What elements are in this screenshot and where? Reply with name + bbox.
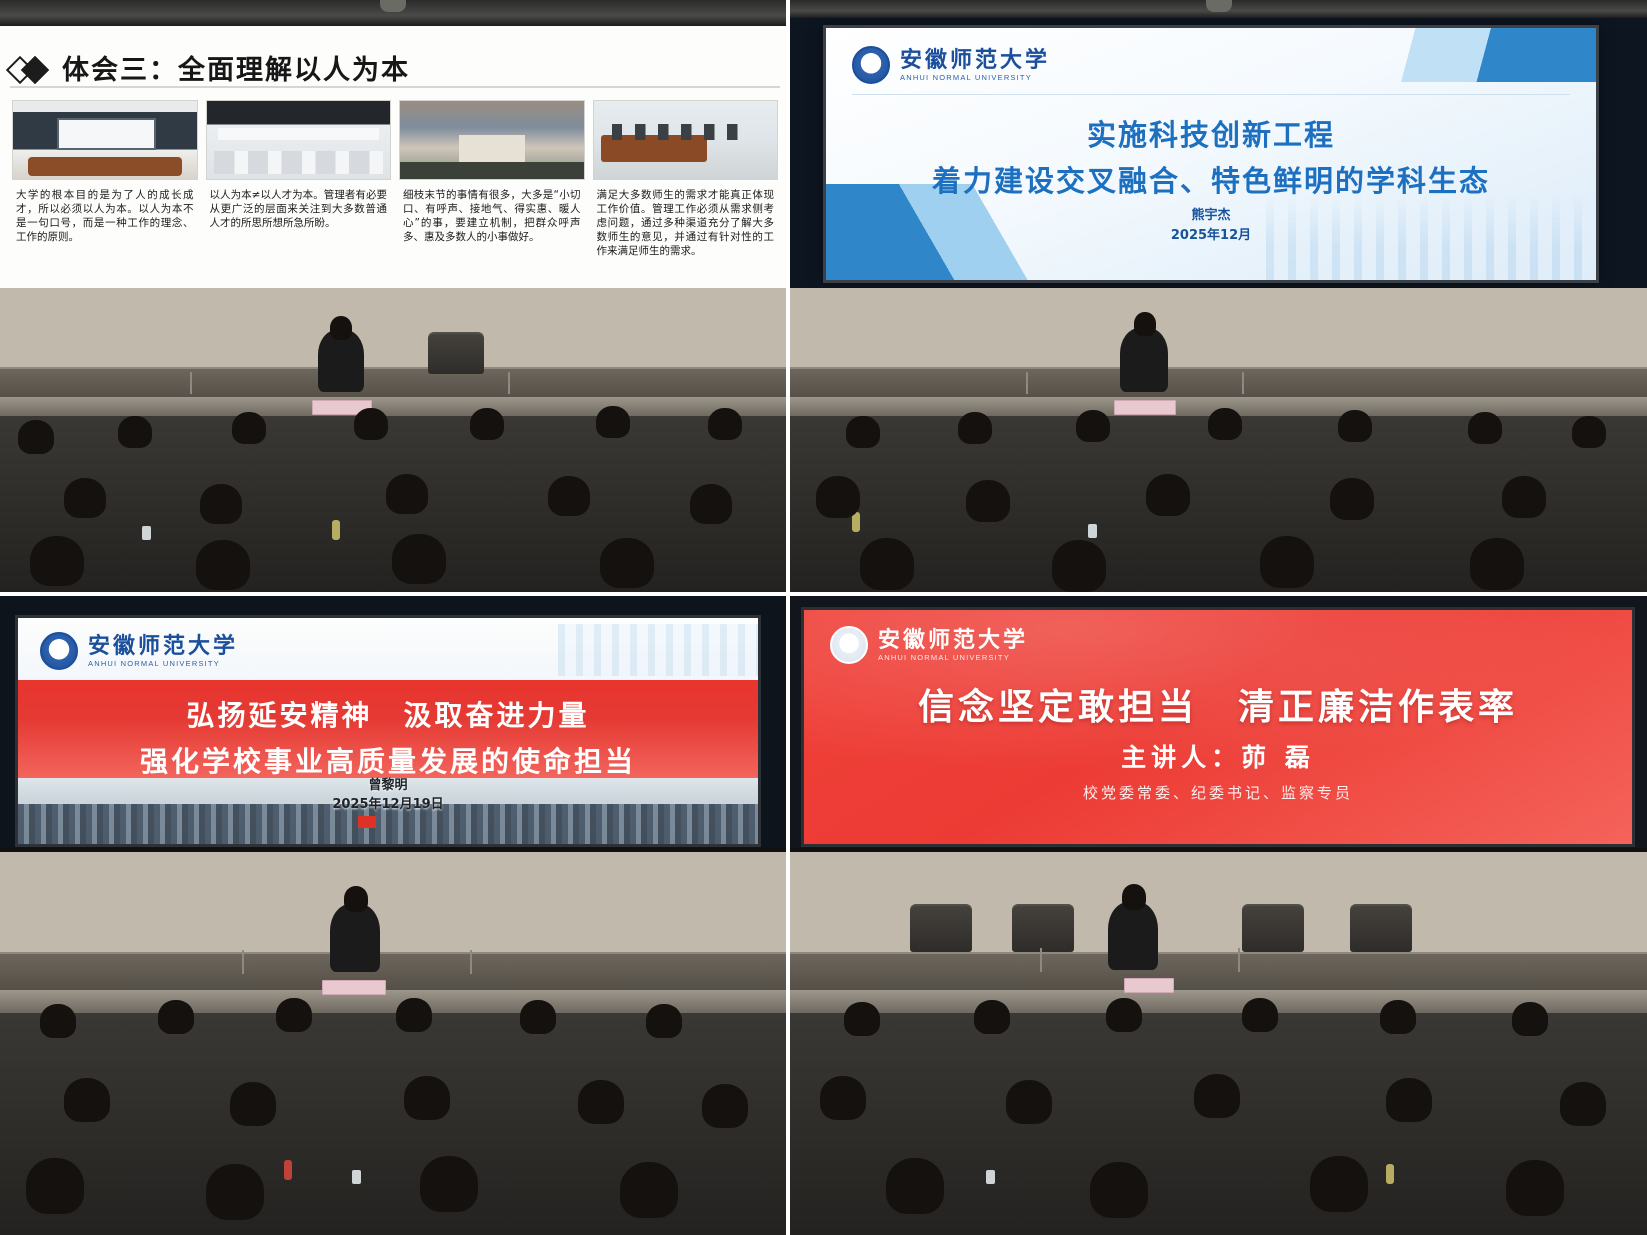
audience-head (860, 538, 914, 590)
slide-title-band: 弘扬延安精神 汲取奋进力量 强化学校事业高质量发展的使命担当 (18, 680, 758, 778)
audience-head (1208, 408, 1242, 440)
speaker-nameplate (322, 980, 386, 995)
projector-screen-top-bar (0, 0, 786, 26)
slide-text-column-2: 以人为本≠以人才为本。管理者有必要从更广泛的层面来关注到大多数普通人才的所思所想… (206, 188, 392, 258)
speaker-person (1120, 328, 1168, 392)
microphone (1238, 948, 1240, 972)
university-name-cn: 安徽师范大学 (88, 635, 238, 657)
audience-head (230, 1082, 276, 1126)
audience-head (30, 536, 84, 586)
university-name: 安徽师范大学 ANHUI NORMAL UNIVERSITY (878, 629, 1028, 662)
audience-head (520, 1000, 556, 1034)
speaker-nameplate (1114, 400, 1176, 415)
bottle (284, 1160, 292, 1180)
cup (1088, 524, 1097, 538)
speaker-head (1122, 884, 1146, 910)
audience-area-top-right (790, 288, 1647, 592)
slide-speaker: 曾黎明 (18, 776, 758, 795)
slide-speaker: 主讲人：茆 磊 (804, 738, 1632, 774)
microphone (1026, 372, 1028, 394)
audience-head (354, 408, 388, 440)
microphone (190, 372, 192, 394)
projection-screen: 安徽师范大学 ANHUI NORMAL UNIVERSITY 实施科技创新工程 … (826, 28, 1596, 280)
head-table (0, 397, 786, 415)
audience-head (1090, 1162, 1148, 1218)
university-name-en: ANHUI NORMAL UNIVERSITY (878, 654, 1028, 662)
slide-speaker: 熊宇杰 (826, 206, 1596, 226)
projector-screen-top-bar (790, 0, 1647, 18)
bottle (1386, 1164, 1394, 1184)
audience-head (958, 412, 992, 444)
slide-text-column-3: 细枝末节的事情有很多，大多是“小切口、有呼声、接地气、得实惠、暖人心”的事，要建… (399, 188, 585, 258)
room-wall (0, 288, 786, 367)
slide-title-line-1: 实施科技创新工程 (826, 112, 1596, 154)
panel-bottom-left: 安徽师范大学 ANHUI NORMAL UNIVERSITY 弘扬延安精神 汲取… (0, 596, 790, 1235)
speaker-person (1108, 902, 1158, 970)
flag-icon (358, 816, 376, 828)
university-seal-icon (40, 632, 78, 670)
slide-title: 信念坚定敢担当 清正廉洁作表率 (804, 678, 1632, 730)
university-name-en: ANHUI NORMAL UNIVERSITY (900, 74, 1050, 82)
cup (352, 1170, 361, 1184)
audience-head (846, 416, 880, 448)
slide-integrity: 安徽师范大学 ANHUI NORMAL UNIVERSITY 信念坚定敢担当 清… (790, 596, 1647, 848)
audience-head (548, 476, 590, 516)
empty-chair (910, 904, 972, 952)
projection-screen: 安徽师范大学 ANHUI NORMAL UNIVERSITY 信念坚定敢担当 清… (804, 610, 1632, 844)
audience-head (974, 1000, 1010, 1034)
speaker-head (344, 886, 368, 912)
audience-head (396, 998, 432, 1032)
projection-screen: 安徽师范大学 ANHUI NORMAL UNIVERSITY 弘扬延安精神 汲取… (18, 618, 758, 844)
audience-head (206, 1164, 264, 1220)
slide-meta: 曾黎明 2025年12月19日 (18, 776, 758, 814)
double-diamond-icon (10, 57, 48, 79)
empty-chair (1242, 904, 1304, 952)
office-building-photo (399, 100, 585, 180)
university-name: 安徽师范大学 ANHUI NORMAL UNIVERSITY (900, 49, 1050, 82)
slide-top-decoration (1296, 28, 1596, 82)
audience-head (1470, 538, 1524, 590)
slide-text-column-4: 满足大多数师生的需求才能真正体现工作价值。管理工作必须从需求侧考虑问题，通过多种… (593, 188, 779, 258)
microphone (508, 372, 510, 394)
slide-campus-silhouette (558, 624, 758, 676)
audience-head (118, 416, 152, 448)
university-name-cn: 安徽师范大学 (878, 629, 1028, 651)
audience-head (886, 1158, 944, 1214)
audience-head (64, 1078, 110, 1122)
audience-head (200, 484, 242, 524)
audience-head (690, 484, 732, 524)
photo-collage: 体会三：全面理解以人为本 大学的根本目的是为了人的成长成才，所以必须以人为本。以… (0, 0, 1647, 1235)
microphone (242, 950, 244, 974)
university-name-en: ANHUI NORMAL UNIVERSITY (88, 660, 238, 668)
audience-head (596, 406, 630, 438)
university-name-cn: 安徽师范大学 (900, 49, 1050, 71)
lecture-room (790, 852, 1647, 1235)
slide-date: 2025年12月 (826, 226, 1596, 246)
heading-divider (10, 86, 780, 88)
speaker-nameplate (1124, 978, 1174, 993)
audience-head (1194, 1074, 1240, 1118)
speaker-head (1134, 312, 1156, 336)
audience-head (196, 540, 250, 590)
room-wall (0, 852, 786, 952)
audience-head (1338, 410, 1372, 442)
university-logo: 安徽师范大学 ANHUI NORMAL UNIVERSITY (40, 632, 238, 670)
university-name: 安徽师范大学 ANHUI NORMAL UNIVERSITY (88, 635, 238, 668)
ceiling-camera-icon (380, 0, 406, 12)
slide-date: 2025年12月19日 (18, 795, 758, 814)
slide-people-oriented: 体会三：全面理解以人为本 大学的根本目的是为了人的成长成才，所以必须以人为本。以… (0, 0, 786, 288)
university-logo: 安徽师范大学 ANHUI NORMAL UNIVERSITY (830, 626, 1028, 664)
audience-head (966, 480, 1010, 522)
slide-title-line-2: 着力建设交叉融合、特色鲜明的学科生态 (826, 158, 1596, 200)
slide-sci-tech-innovation: 安徽师范大学 ANHUI NORMAL UNIVERSITY 实施科技创新工程 … (790, 0, 1647, 288)
audience-head (578, 1080, 624, 1124)
audience-head (1260, 536, 1314, 588)
slide-text-columns: 大学的根本目的是为了人的成长成才，所以必须以人为本。以人为本不是一句口号，而是一… (12, 188, 778, 258)
slide-heading-row: 体会三：全面理解以人为本 (10, 48, 410, 87)
audience-head (392, 534, 446, 584)
audience-head (844, 1002, 880, 1036)
audience-head (232, 412, 266, 444)
speaker-head (330, 316, 352, 340)
university-logo: 安徽师范大学 ANHUI NORMAL UNIVERSITY (852, 46, 1050, 84)
audience-head (158, 1000, 194, 1034)
empty-chair (1012, 904, 1074, 952)
audience-head (1330, 478, 1374, 520)
audience-head (420, 1156, 478, 1212)
bottle (332, 520, 340, 540)
audience-head (1106, 998, 1142, 1032)
university-seal-icon (852, 46, 890, 84)
cup (142, 526, 151, 540)
microphone (470, 950, 472, 974)
audience-head (1502, 476, 1546, 518)
audience-head (276, 998, 312, 1032)
audience-head (816, 476, 860, 518)
panel-top-left: 体会三：全面理解以人为本 大学的根本目的是为了人的成长成才，所以必须以人为本。以… (0, 0, 790, 596)
ceiling-camera-icon (1206, 0, 1232, 12)
audience-area-top-left (0, 288, 786, 592)
audience-head (1052, 540, 1106, 592)
workstation-photo (593, 100, 779, 180)
audience-head (470, 408, 504, 440)
audience-area-bottom-right (790, 852, 1647, 1235)
audience-head (620, 1162, 678, 1218)
audience-head (386, 474, 428, 514)
audience-head (40, 1004, 76, 1038)
open-office-photo (206, 100, 392, 180)
empty-chair (428, 332, 484, 374)
slide-heading: 体会三：全面理解以人为本 (62, 48, 410, 87)
audience-head (404, 1076, 450, 1120)
logo-divider (852, 94, 1570, 95)
audience-head (18, 420, 54, 454)
audience-head (1310, 1156, 1368, 1212)
slide-title-line-2: 强化学校事业高质量发展的使命担当 (18, 740, 758, 780)
audience-head (1560, 1082, 1606, 1126)
slide-title-line-1: 弘扬延安精神 汲取奋进力量 (18, 694, 758, 734)
microphone (1040, 948, 1042, 972)
audience-head (26, 1158, 84, 1214)
audience-head (702, 1084, 748, 1128)
panel-bottom-right: 安徽师范大学 ANHUI NORMAL UNIVERSITY 信念坚定敢担当 清… (790, 596, 1647, 1235)
audience-head (1146, 474, 1190, 516)
slide-header: 安徽师范大学 ANHUI NORMAL UNIVERSITY (18, 618, 758, 680)
audience-head (820, 1076, 866, 1120)
lecture-room (0, 288, 786, 592)
lecture-room (790, 288, 1647, 592)
cup (986, 1170, 995, 1184)
slide-text-column-1: 大学的根本目的是为了人的成长成才，所以必须以人为本。以人为本不是一句口号，而是一… (12, 188, 198, 258)
audience-head (1572, 416, 1606, 448)
slide-title: 实施科技创新工程 着力建设交叉融合、特色鲜明的学科生态 (826, 112, 1596, 200)
lecture-room (0, 852, 786, 1235)
meeting-room-photo (12, 100, 198, 180)
audience-head (1512, 1002, 1548, 1036)
audience-head (708, 408, 742, 440)
room-wall (790, 288, 1647, 367)
audience-head (1006, 1080, 1052, 1124)
audience-head (646, 1004, 682, 1038)
slide-speaker-subtitle: 校党委常委、纪委书记、监察专员 (804, 782, 1632, 803)
slide-meta: 熊宇杰 2025年12月 (826, 206, 1596, 246)
slide-yanan-spirit: 安徽师范大学 ANHUI NORMAL UNIVERSITY 弘扬延安精神 汲取… (0, 596, 786, 848)
university-seal-icon (830, 626, 868, 664)
audience-head (1506, 1160, 1564, 1216)
audience-head (1468, 412, 1502, 444)
empty-chair (1350, 904, 1412, 952)
audience-area-bottom-left (0, 852, 786, 1235)
audience-head (64, 478, 106, 518)
audience-head (600, 538, 654, 588)
slide-photo-strip (12, 100, 778, 178)
audience-head (1242, 998, 1278, 1032)
microphone (1242, 372, 1244, 394)
audience-head (1386, 1078, 1432, 1122)
audience-head (1380, 1000, 1416, 1034)
audience-head (1076, 410, 1110, 442)
speaker-person (330, 904, 380, 972)
panel-top-right: 安徽师范大学 ANHUI NORMAL UNIVERSITY 实施科技创新工程 … (790, 0, 1647, 596)
